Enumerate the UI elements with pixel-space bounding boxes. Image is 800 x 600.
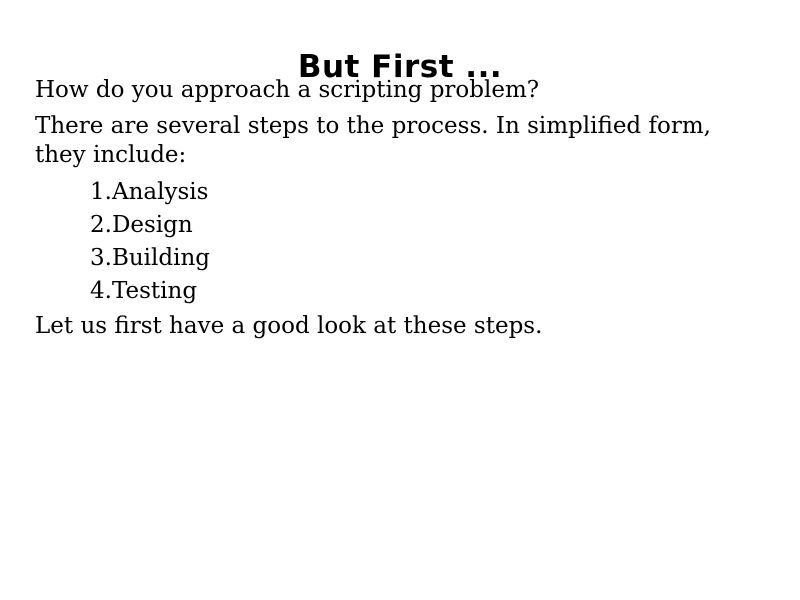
list-item-label: Building <box>112 245 210 271</box>
presentation-slide: But First ... How do you approach a scri… <box>0 0 800 600</box>
steps-list: 1.Analysis 2.Design 3.Building 4.Testing <box>35 176 770 308</box>
list-item: 3.Building <box>35 242 770 275</box>
list-item-number: 2. <box>90 212 112 238</box>
list-item-label: Testing <box>112 278 197 304</box>
slide-body: How do you approach a scripting problem?… <box>35 76 770 341</box>
list-item: 2.Design <box>35 209 770 242</box>
list-item-label: Design <box>112 212 193 238</box>
list-item: 1.Analysis <box>35 176 770 209</box>
list-item-number: 1. <box>90 179 112 205</box>
list-item-number: 3. <box>90 245 112 271</box>
closing-text: Let us first have a good look at these s… <box>35 312 770 341</box>
intro-question-text: How do you approach a scripting problem? <box>35 76 770 105</box>
list-item-number: 4. <box>90 278 112 304</box>
list-item-label: Analysis <box>112 179 208 205</box>
list-item: 4.Testing <box>35 275 770 308</box>
steps-lead-in-text: There are several steps to the process. … <box>35 112 760 170</box>
